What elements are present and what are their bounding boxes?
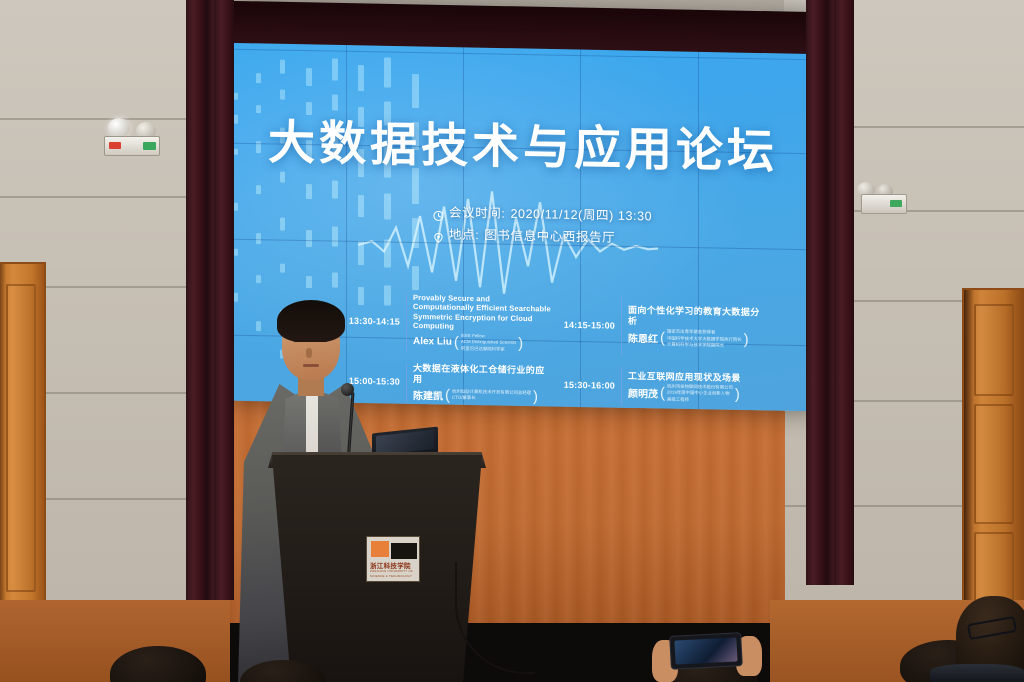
session-divider [406,293,407,351]
right-curtain [806,0,854,585]
paren-open: ( [660,331,665,346]
session-speaker-name: Alex Liu [413,336,452,348]
right-door[interactable] [962,288,1024,618]
podium-plaque: 浙江科技学院 ZHEJIANG UNIVERSITY OF SCIENCE & … [366,536,420,582]
meeting-time-label: 会议时间: [449,203,505,226]
session-speaker-credentials: 杭州恒励计算机技术开发有限公司总经理CTO/董事长 [452,388,531,402]
session-speaker-row: 陈恩红(国家杰出青年基金获得者中国科学技术大学大数据学院执行院长计算机科学与技术… [628,328,768,350]
paren-close: ) [744,332,749,347]
session-title: 大数据在液体化工仓储行业的应用 [413,363,553,388]
plaque-english-name-2: SCIENCE & TECHNOLOGY [370,574,412,578]
conference-hall-photo: ZUST 1980-2020 TEE 信息与电子工程学院 大数据技术与应用论坛 … [0,0,1024,682]
session-title: 面向个性化学习的教育大数据分析 [628,305,768,330]
session-divider [621,297,622,355]
paren-close: ) [533,389,538,404]
session-speaker-credentials: 国家杰出青年基金获得者中国科学技术大学大数据学院执行院长计算机科学与技术学院副院… [667,329,742,349]
session-speaker-name: 陈恩红 [628,330,658,346]
microphone-icon [341,383,354,396]
paren-open: ( [454,335,459,350]
meeting-place-line: 地点: 图书信息中心西报告厅 [433,224,652,250]
session-time: 14:15-15:00 [563,320,615,331]
session-divider [621,367,622,406]
lamp-icon [108,118,130,138]
screen-title: 大数据技术与应用论坛 [228,103,818,183]
schedule-session: 13:30-14:15Provably Secure and Computati… [348,286,553,360]
plaque-english-name: ZHEJIANG UNIVERSITY OF [370,569,413,573]
paren-open: ( [660,385,665,400]
left-emergency-light [100,118,162,158]
session-speaker-credentials: 杭州鸿泉物联网技术股份有限公司2019年度中国中小企业创新人物高级工程师 [667,384,733,404]
session-speaker-name: 颜明茂 [628,385,658,401]
session-title: 工业互联网应用现状及场景 [628,371,741,384]
paren-open: ( [445,387,450,402]
right-emergency-light [855,182,913,218]
schedule-session: 14:15-15:00面向个性化学习的教育大数据分析陈恩红(国家杰出青年基金获得… [563,290,768,364]
audience-shoulder-right [930,664,1024,682]
smartphone-icon [669,632,743,670]
session-time: 15:30-16:00 [563,380,615,391]
left-door[interactable] [0,262,46,614]
session-speaker-row: 陈建凯(杭州恒励计算机技术开发有限公司总经理CTO/董事长) [413,387,553,405]
schedule-session: 15:00-15:30大数据在液体化工仓储行业的应用陈建凯(杭州恒励计算机技术开… [348,356,553,410]
meeting-place-value: 图书信息中心西报告厅 [484,225,615,249]
session-speaker-row: 颜明茂(杭州鸿泉物联网技术股份有限公司2019年度中国中小企业创新人物高级工程师… [628,383,741,404]
session-schedule: 13:30-14:15Provably Secure and Computati… [348,286,768,412]
paren-close: ) [518,336,523,351]
session-speaker-name: 陈建凯 [413,387,443,403]
schedule-session: 15:30-16:00工业互联网应用现状及场景颜明茂(杭州鸿泉物联网技术股份有限… [563,360,768,412]
session-title: Provably Secure and Computationally Effi… [413,293,553,334]
hair [277,300,345,342]
location-pin-icon [433,230,444,241]
paren-close: ) [735,387,740,402]
clock-icon [433,208,444,219]
session-speaker-row: Alex Liu(IEEE FellowACM Distinguished Sc… [413,332,553,354]
session-speaker-credentials: IEEE FellowACM Distinguished Scientist阿里… [461,333,516,353]
left-curtain [186,0,234,600]
session-divider [406,363,407,402]
meeting-time-value: 2020/11/12(周四) 13:30 [510,204,652,228]
meeting-info: 会议时间: 2020/11/12(周四) 13:30 地点: 图书信息中心西报告… [433,202,652,250]
meeting-place-label: 地点: [449,225,479,247]
